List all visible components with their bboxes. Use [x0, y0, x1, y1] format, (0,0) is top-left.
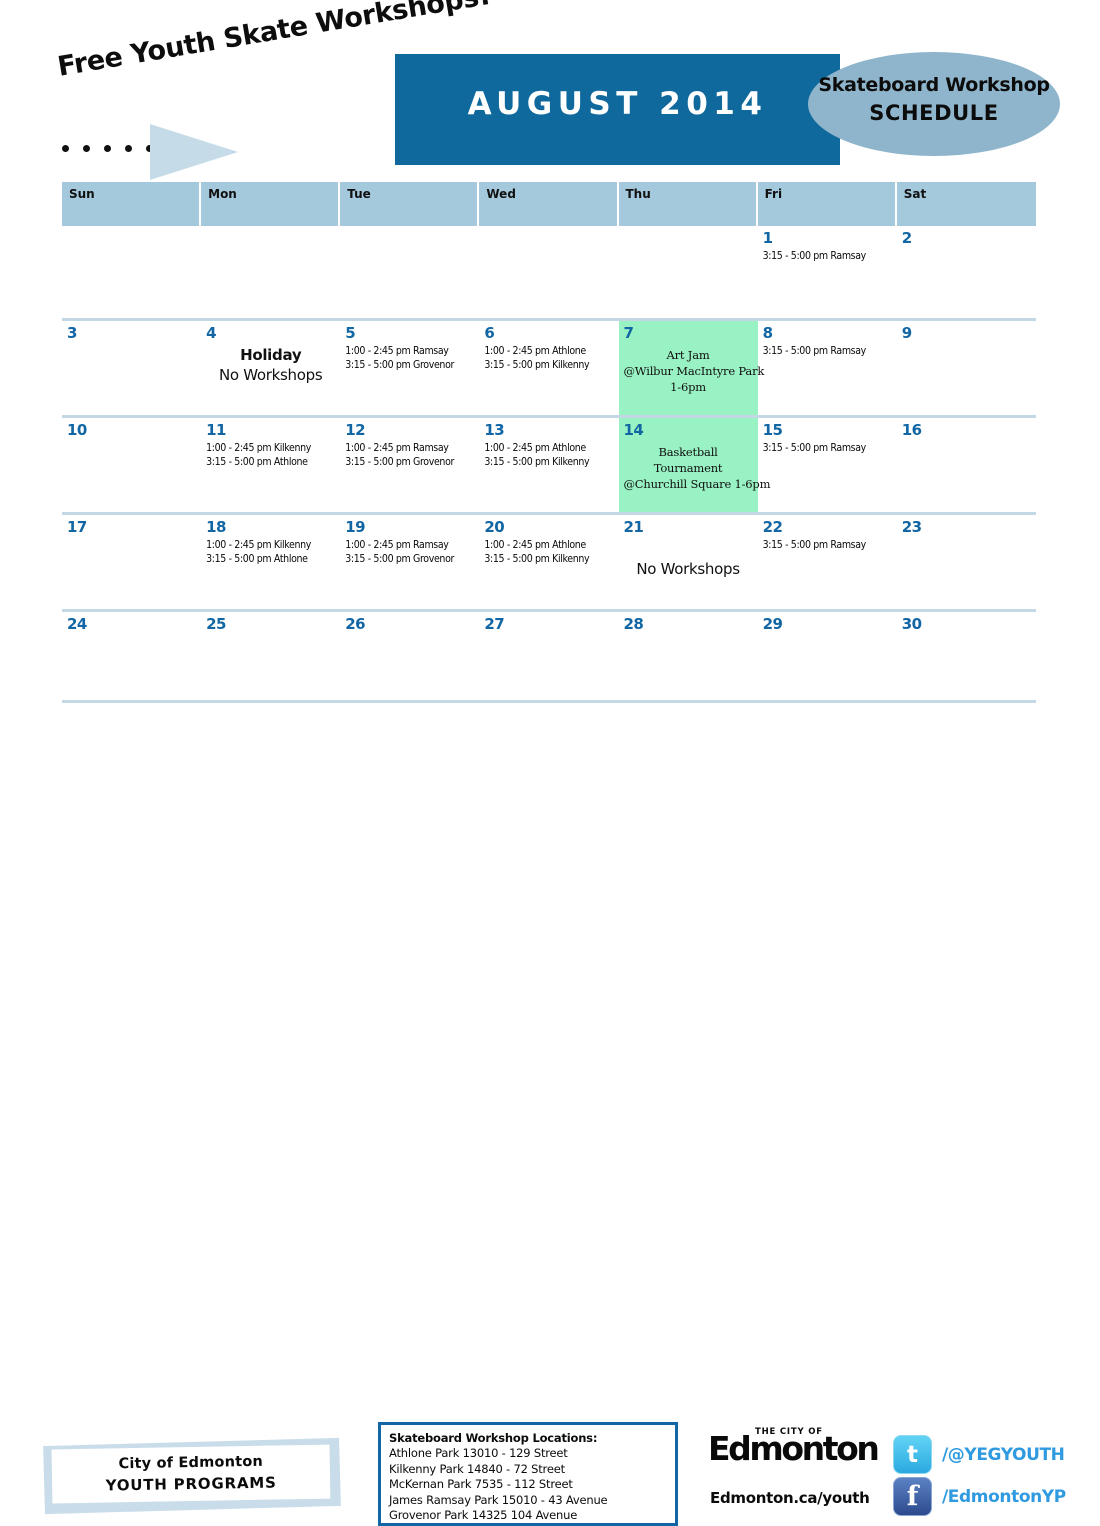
calendar-day-15[interactable]: 153:15 - 5:00 pm Ramsay	[758, 418, 897, 512]
weekday-header-fri: Fri	[758, 182, 897, 226]
day-number: 14	[624, 422, 753, 438]
day-note: HolidayNo Workshops	[206, 345, 335, 386]
facebook-link[interactable]: f /EdmontonYP	[893, 1477, 1066, 1516]
calendar-week-row: 10111:00 - 2:45 pm Kilkenny3:15 - 5:00 p…	[62, 418, 1036, 515]
calendar-day-5[interactable]: 51:00 - 2:45 pm Ramsay3:15 - 5:00 pm Gro…	[340, 321, 479, 415]
calendar-day-4[interactable]: 4HolidayNo Workshops	[201, 321, 340, 415]
schedule-badge-line1: Skateboard Workshop	[808, 74, 1060, 96]
calendar-day-9[interactable]: 9	[897, 321, 1036, 415]
twitter-handle: /@YEGYOUTH	[942, 1445, 1065, 1465]
day-note-normal: No Workshops	[206, 365, 335, 386]
calendar-day-10[interactable]: 10	[62, 418, 201, 512]
special-event: Art Jam@Wilbur MacIntyre Park1-6pm	[624, 347, 753, 395]
calendar-day-12[interactable]: 121:00 - 2:45 pm Ramsay3:15 - 5:00 pm Gr…	[340, 418, 479, 512]
event-line: 3:15 - 5:00 pm Ramsay	[763, 249, 892, 263]
event-line: 1:00 - 2:45 pm Ramsay	[345, 441, 474, 455]
youth-programs-badge-inner: City of Edmonton YOUTH PROGRAMS	[51, 1445, 330, 1504]
calendar-weekday-header: SunMonTueWedThuFriSat	[62, 182, 1036, 226]
calendar-week-row: 13:15 - 5:00 pm Ramsay2	[62, 226, 1036, 321]
calendar-day-17[interactable]: 17	[62, 515, 201, 609]
location-line: Grovenor Park 14325 104 Avenue	[389, 1508, 675, 1524]
weekday-header-sun: Sun	[62, 182, 201, 226]
calendar-day-2[interactable]: 2	[897, 226, 1036, 318]
calendar-day-27[interactable]: 27	[479, 612, 618, 700]
twitter-link[interactable]: t /@YEGYOUTH	[893, 1435, 1065, 1474]
day-number: 18	[206, 519, 335, 535]
calendar-day-13[interactable]: 131:00 - 2:45 pm Athlone3:15 - 5:00 pm K…	[479, 418, 618, 512]
locations-list: Athlone Park 13010 - 129 StreetKilkenny …	[389, 1446, 675, 1524]
day-number: 7	[624, 325, 753, 341]
dot	[104, 145, 111, 152]
twitter-icon[interactable]: t	[893, 1435, 932, 1474]
dot	[62, 145, 69, 152]
day-events: 1:00 - 2:45 pm Ramsay3:15 - 5:00 pm Grov…	[345, 441, 474, 469]
day-number: 30	[902, 616, 1031, 632]
day-events: 1:00 - 2:45 pm Athlone3:15 - 5:00 pm Kil…	[484, 538, 613, 566]
event-line: 3:15 - 5:00 pm Ramsay	[763, 344, 892, 358]
day-number: 2	[902, 230, 1031, 246]
day-events: 1:00 - 2:45 pm Kilkenny3:15 - 5:00 pm At…	[206, 538, 335, 566]
weekday-header-sat: Sat	[897, 182, 1036, 226]
calendar-day-21[interactable]: 21No Workshops	[619, 515, 758, 609]
event-line: 3:15 - 5:00 pm Kilkenny	[484, 358, 613, 372]
calendar-day-empty	[340, 226, 479, 318]
day-number: 6	[484, 325, 613, 341]
location-line: Athlone Park 13010 - 129 Street	[389, 1446, 675, 1462]
day-events: 3:15 - 5:00 pm Ramsay	[763, 538, 892, 552]
event-line: 3:15 - 5:00 pm Kilkenny	[484, 455, 613, 469]
day-events: 1:00 - 2:45 pm Athlone3:15 - 5:00 pm Kil…	[484, 344, 613, 372]
weekday-header-thu: Thu	[619, 182, 758, 226]
youth-programs-badge: City of Edmonton YOUTH PROGRAMS	[43, 1438, 341, 1514]
locations-title: Skateboard Workshop Locations:	[389, 1431, 675, 1446]
calendar-day-8[interactable]: 83:15 - 5:00 pm Ramsay	[758, 321, 897, 415]
calendar-day-11[interactable]: 111:00 - 2:45 pm Kilkenny3:15 - 5:00 pm …	[201, 418, 340, 512]
event-line: 3:15 - 5:00 pm Grovenor	[345, 552, 474, 566]
location-line: McKernan Park 7535 - 112 Street	[389, 1477, 675, 1493]
twitter-glyph: t	[907, 1443, 918, 1467]
facebook-icon[interactable]: f	[893, 1477, 932, 1516]
location-line: Kilkenny Park 14840 - 72 Street	[389, 1462, 675, 1478]
special-event-line: @Wilbur MacIntyre Park	[624, 363, 753, 379]
special-event-line: Tournament	[624, 460, 753, 476]
calendar-day-19[interactable]: 191:00 - 2:45 pm Ramsay3:15 - 5:00 pm Gr…	[340, 515, 479, 609]
event-line: 3:15 - 5:00 pm Athlone	[206, 552, 335, 566]
calendar-week-row: 34HolidayNo Workshops51:00 - 2:45 pm Ram…	[62, 321, 1036, 418]
day-number: 23	[902, 519, 1031, 535]
calendar-day-empty	[479, 226, 618, 318]
day-number: 1	[763, 230, 892, 246]
special-event-line: Basketball	[624, 444, 753, 460]
day-number: 24	[67, 616, 196, 632]
calendar-day-6[interactable]: 61:00 - 2:45 pm Athlone3:15 - 5:00 pm Ki…	[479, 321, 618, 415]
calendar-weeks: 13:15 - 5:00 pm Ramsay234HolidayNo Works…	[62, 226, 1036, 703]
day-events: 1:00 - 2:45 pm Ramsay3:15 - 5:00 pm Grov…	[345, 344, 474, 372]
day-number: 9	[902, 325, 1031, 341]
poster-header: Free Youth Skate Workshops! August 2014 …	[0, 0, 1100, 182]
day-number: 22	[763, 519, 892, 535]
event-line: 1:00 - 2:45 pm Athlone	[484, 344, 613, 358]
day-number: 12	[345, 422, 474, 438]
calendar-day-24[interactable]: 24	[62, 612, 201, 700]
day-number: 25	[206, 616, 335, 632]
event-line: 3:15 - 5:00 pm Grovenor	[345, 358, 474, 372]
day-number: 8	[763, 325, 892, 341]
day-number: 16	[902, 422, 1031, 438]
day-number: 4	[206, 325, 335, 341]
calendar-day-22[interactable]: 223:15 - 5:00 pm Ramsay	[758, 515, 897, 609]
day-number: 3	[67, 325, 196, 341]
special-event-line: @Churchill Square 1-6pm	[624, 476, 753, 492]
calendar-week-row: 17181:00 - 2:45 pm Kilkenny3:15 - 5:00 p…	[62, 515, 1036, 612]
day-number: 28	[624, 616, 753, 632]
calendar-day-26[interactable]: 26	[340, 612, 479, 700]
dot	[83, 145, 90, 152]
calendar-week-row: 24252627282930	[62, 612, 1036, 703]
day-events: 3:15 - 5:00 pm Ramsay	[763, 344, 892, 358]
calendar-day-3[interactable]: 3	[62, 321, 201, 415]
day-number: 21	[624, 519, 753, 535]
calendar-day-14[interactable]: 14BasketballTournament@Churchill Square …	[619, 418, 758, 512]
event-line: 1:00 - 2:45 pm Kilkenny	[206, 441, 335, 455]
special-event-line: 1-6pm	[624, 379, 753, 395]
day-events: 3:15 - 5:00 pm Ramsay	[763, 249, 892, 263]
day-number: 27	[484, 616, 613, 632]
day-number: 20	[484, 519, 613, 535]
event-line: 1:00 - 2:45 pm Athlone	[484, 441, 613, 455]
day-number: 5	[345, 325, 474, 341]
event-line: 3:15 - 5:00 pm Athlone	[206, 455, 335, 469]
weekday-header-tue: Tue	[340, 182, 479, 226]
day-events: 1:00 - 2:45 pm Ramsay3:15 - 5:00 pm Grov…	[345, 538, 474, 566]
day-number: 29	[763, 616, 892, 632]
event-line: 3:15 - 5:00 pm Ramsay	[763, 441, 892, 455]
location-line: James Ramsay Park 15010 - 43 Avenue	[389, 1493, 675, 1509]
calendar-day-18[interactable]: 181:00 - 2:45 pm Kilkenny3:15 - 5:00 pm …	[201, 515, 340, 609]
edmonton-url: Edmonton.ca/youth	[710, 1489, 869, 1507]
calendar-day-28[interactable]: 28	[619, 612, 758, 700]
weekday-header-mon: Mon	[201, 182, 340, 226]
day-number: 13	[484, 422, 613, 438]
facebook-handle: /EdmontonYP	[942, 1487, 1066, 1507]
event-line: 1:00 - 2:45 pm Ramsay	[345, 538, 474, 552]
youth-badge-line1: City of Edmonton	[52, 1453, 330, 1474]
calendar-day-empty	[62, 226, 201, 318]
calendar-day-30[interactable]: 30	[897, 612, 1036, 700]
youth-badge-line2: YOUTH PROGRAMS	[52, 1473, 330, 1496]
calendar-grid: SunMonTueWedThuFriSat 13:15 - 5:00 pm Ra…	[62, 182, 1036, 703]
special-event: BasketballTournament@Churchill Square 1-…	[624, 444, 753, 492]
dot	[125, 145, 132, 152]
month-banner: August 2014	[395, 54, 840, 165]
event-line: 3:15 - 5:00 pm Kilkenny	[484, 552, 613, 566]
calendar-day-empty	[619, 226, 758, 318]
edmonton-logo: Edmonton THE CITY OF	[708, 1430, 883, 1472]
poster-footer: City of Edmonton YOUTH PROGRAMS Skateboa…	[0, 700, 1100, 850]
event-line: 1:00 - 2:45 pm Athlone	[484, 538, 613, 552]
day-events: 1:00 - 2:45 pm Kilkenny3:15 - 5:00 pm At…	[206, 441, 335, 469]
day-number: 15	[763, 422, 892, 438]
day-events: 3:15 - 5:00 pm Ramsay	[763, 441, 892, 455]
weekday-header-wed: Wed	[479, 182, 618, 226]
calendar-day-25[interactable]: 25	[201, 612, 340, 700]
event-line: 1:00 - 2:45 pm Ramsay	[345, 344, 474, 358]
calendar-day-16[interactable]: 16	[897, 418, 1036, 512]
day-number: 17	[67, 519, 196, 535]
day-number: 10	[67, 422, 196, 438]
event-line: 3:15 - 5:00 pm Grovenor	[345, 455, 474, 469]
schedule-badge: Skateboard Workshop SCHEDULE	[808, 52, 1060, 156]
day-number: 19	[345, 519, 474, 535]
day-note-normal: No Workshops	[624, 559, 753, 580]
day-note: No Workshops	[624, 559, 753, 580]
calendar-day-1[interactable]: 13:15 - 5:00 pm Ramsay	[758, 226, 897, 318]
calendar-day-20[interactable]: 201:00 - 2:45 pm Athlone3:15 - 5:00 pm K…	[479, 515, 618, 609]
calendar-day-29[interactable]: 29	[758, 612, 897, 700]
event-line: 3:15 - 5:00 pm Ramsay	[763, 538, 892, 552]
edmonton-wordmark: Edmonton	[708, 1432, 877, 1466]
special-event-line: Art Jam	[624, 347, 753, 363]
day-note-strong: Holiday	[206, 345, 335, 365]
day-events: 1:00 - 2:45 pm Athlone3:15 - 5:00 pm Kil…	[484, 441, 613, 469]
calendar-day-7[interactable]: 7Art Jam@Wilbur MacIntyre Park1-6pm	[619, 321, 758, 415]
locations-box: Skateboard Workshop Locations: Athlone P…	[378, 1422, 678, 1526]
arrow-icon	[150, 124, 238, 180]
edmonton-logo-tagline: THE CITY OF	[755, 1427, 823, 1437]
calendar-day-empty	[201, 226, 340, 318]
day-number: 26	[345, 616, 474, 632]
facebook-glyph: f	[907, 1485, 919, 1509]
month-title: August 2014	[395, 86, 840, 122]
calendar-day-23[interactable]: 23	[897, 515, 1036, 609]
event-line: 1:00 - 2:45 pm Kilkenny	[206, 538, 335, 552]
day-number: 11	[206, 422, 335, 438]
schedule-badge-line2: SCHEDULE	[808, 101, 1060, 125]
